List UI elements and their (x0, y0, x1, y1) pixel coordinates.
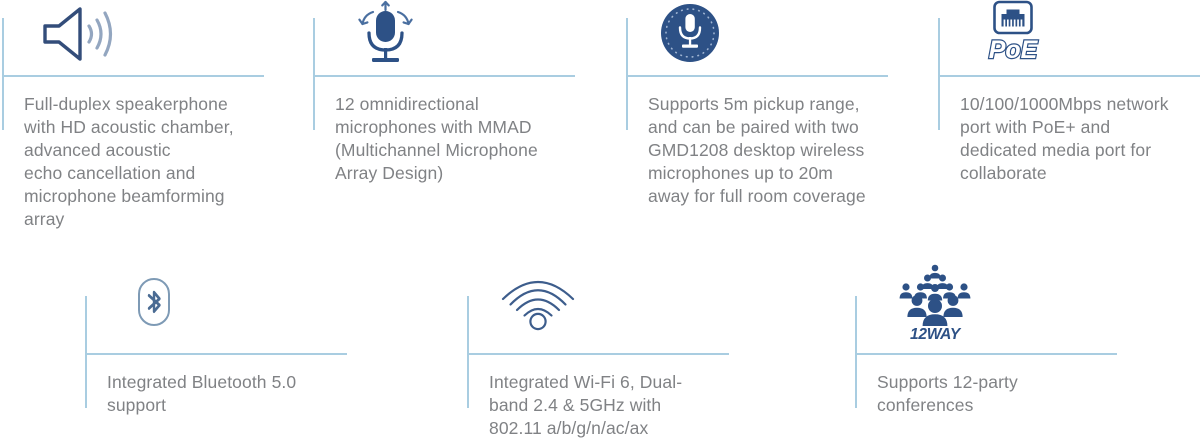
feature-card-conference: 12WAY Supports 12-party conferences (855, 296, 1155, 431)
feature-card-microphones: 12 omnidirectional microphones with MMAD… (313, 18, 613, 233)
feature-card-wifi: Integrated Wi-Fi 6, Dual- band 2.4 & 5GH… (467, 296, 767, 439)
card-horizontal-rule (2, 75, 264, 77)
feature-card-network-port: PoE 10/100/1000Mbps network port with Po… (938, 18, 1200, 233)
feature-card-speakerphone-text: Full-duplex speakerphone with HD acousti… (24, 93, 286, 232)
svg-text:12WAY: 12WAY (910, 326, 962, 343)
feature-card-pickup-range: Supports 5m pickup range, and can be pai… (626, 18, 926, 233)
microphone-circle-icon (657, 0, 723, 66)
svg-text:PoE: PoE (989, 36, 1039, 64)
feature-card-wifi-text: Integrated Wi-Fi 6, Dual- band 2.4 & 5GH… (489, 371, 751, 439)
feature-card-network-port-text: 10/100/1000Mbps network port with PoE+ a… (960, 93, 1200, 185)
feature-card-bluetooth: Integrated Bluetooth 5.0 support (85, 296, 385, 431)
feature-card-pickup-range-text: Supports 5m pickup range, and can be pai… (648, 93, 916, 208)
twelve-way-conference-icon: 12WAY (892, 262, 978, 340)
feature-highlights-board: Full-duplex speakerphone with HD acousti… (0, 0, 1200, 439)
card-vertical-rule (467, 296, 469, 408)
bluetooth-icon (129, 276, 179, 334)
omnidirectional-microphone-icon (351, 2, 421, 68)
card-vertical-rule (855, 296, 857, 408)
card-horizontal-rule (467, 353, 729, 355)
feature-card-conference-text: Supports 12-party conferences (877, 371, 1139, 417)
card-vertical-rule (938, 18, 940, 130)
card-horizontal-rule (855, 353, 1117, 355)
card-vertical-rule (2, 18, 4, 130)
speaker-volume-icon (35, 4, 119, 64)
card-vertical-rule (313, 18, 315, 130)
feature-card-speakerphone: Full-duplex speakerphone with HD acousti… (2, 18, 302, 233)
card-horizontal-rule (313, 75, 575, 77)
card-vertical-rule (626, 18, 628, 130)
feature-card-microphones-text: 12 omnidirectional microphones with MMAD… (335, 93, 603, 185)
card-horizontal-rule (626, 75, 888, 77)
card-horizontal-rule (938, 75, 1200, 77)
card-horizontal-rule (85, 353, 347, 355)
wifi-icon (497, 272, 579, 332)
card-vertical-rule (85, 296, 87, 408)
poe-ethernet-icon: PoE (976, 0, 1048, 66)
feature-card-bluetooth-text: Integrated Bluetooth 5.0 support (107, 371, 369, 417)
